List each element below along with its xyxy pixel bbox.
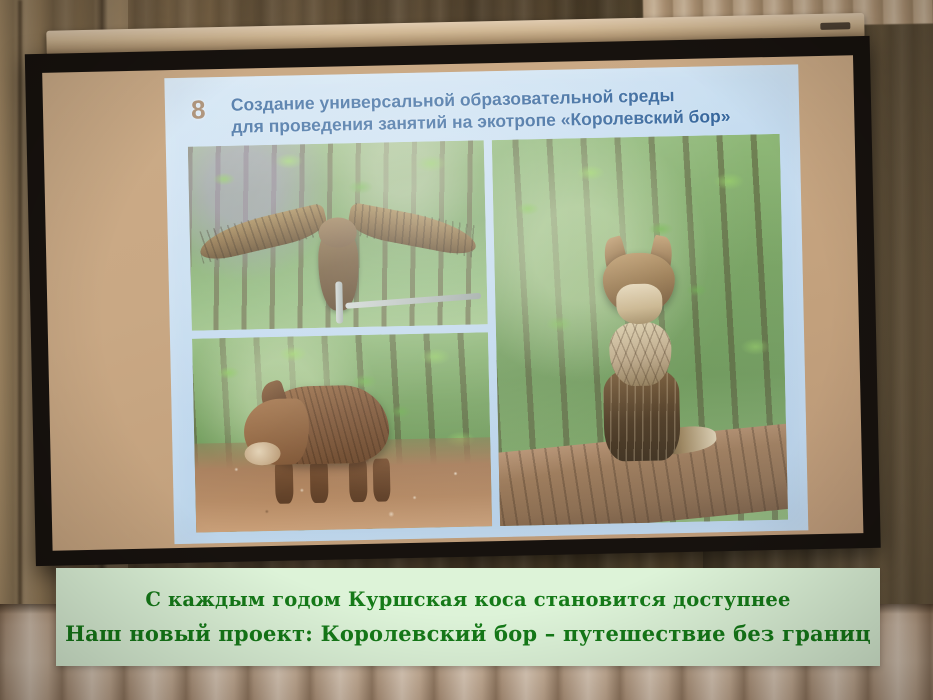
boar-leg: [275, 461, 294, 504]
boar-leg: [349, 459, 368, 502]
photo-owl-sculpture: [188, 140, 488, 330]
screen-frame: 8 Создание универсальной образовательной…: [25, 36, 881, 566]
slide-photo-grid: [188, 134, 788, 533]
roller-endcap: [820, 22, 850, 30]
caption-line-2: Наш новый проект: Королевский бор – путе…: [65, 621, 871, 646]
slide-number: 8: [191, 94, 206, 125]
photo-scene: 8 Создание универсальной образовательной…: [0, 0, 933, 700]
fox-chest: [609, 322, 672, 387]
projection-screen: 8 Создание универсальной образовательной…: [24, 13, 880, 566]
owl-head: [318, 217, 357, 248]
boar-leg: [372, 459, 391, 502]
fox-muzzle: [616, 283, 663, 324]
photo-fox-sculpture: [492, 134, 788, 526]
photo-boar-sculpture: [192, 332, 492, 532]
presentation-slide: 8 Создание универсальной образовательной…: [164, 64, 808, 544]
caption-line-1: С каждым годом Куршская коса становится …: [145, 588, 790, 611]
owl-support-post: [335, 282, 343, 324]
screen-fabric: 8 Создание универсальной образовательной…: [42, 55, 863, 551]
caption-banner: С каждым годом Куршская коса становится …: [56, 568, 880, 666]
curtain-seam-left: [18, 0, 22, 700]
boar-leg: [310, 460, 329, 503]
slide-title: Создание универсальной образовательной с…: [231, 82, 788, 138]
